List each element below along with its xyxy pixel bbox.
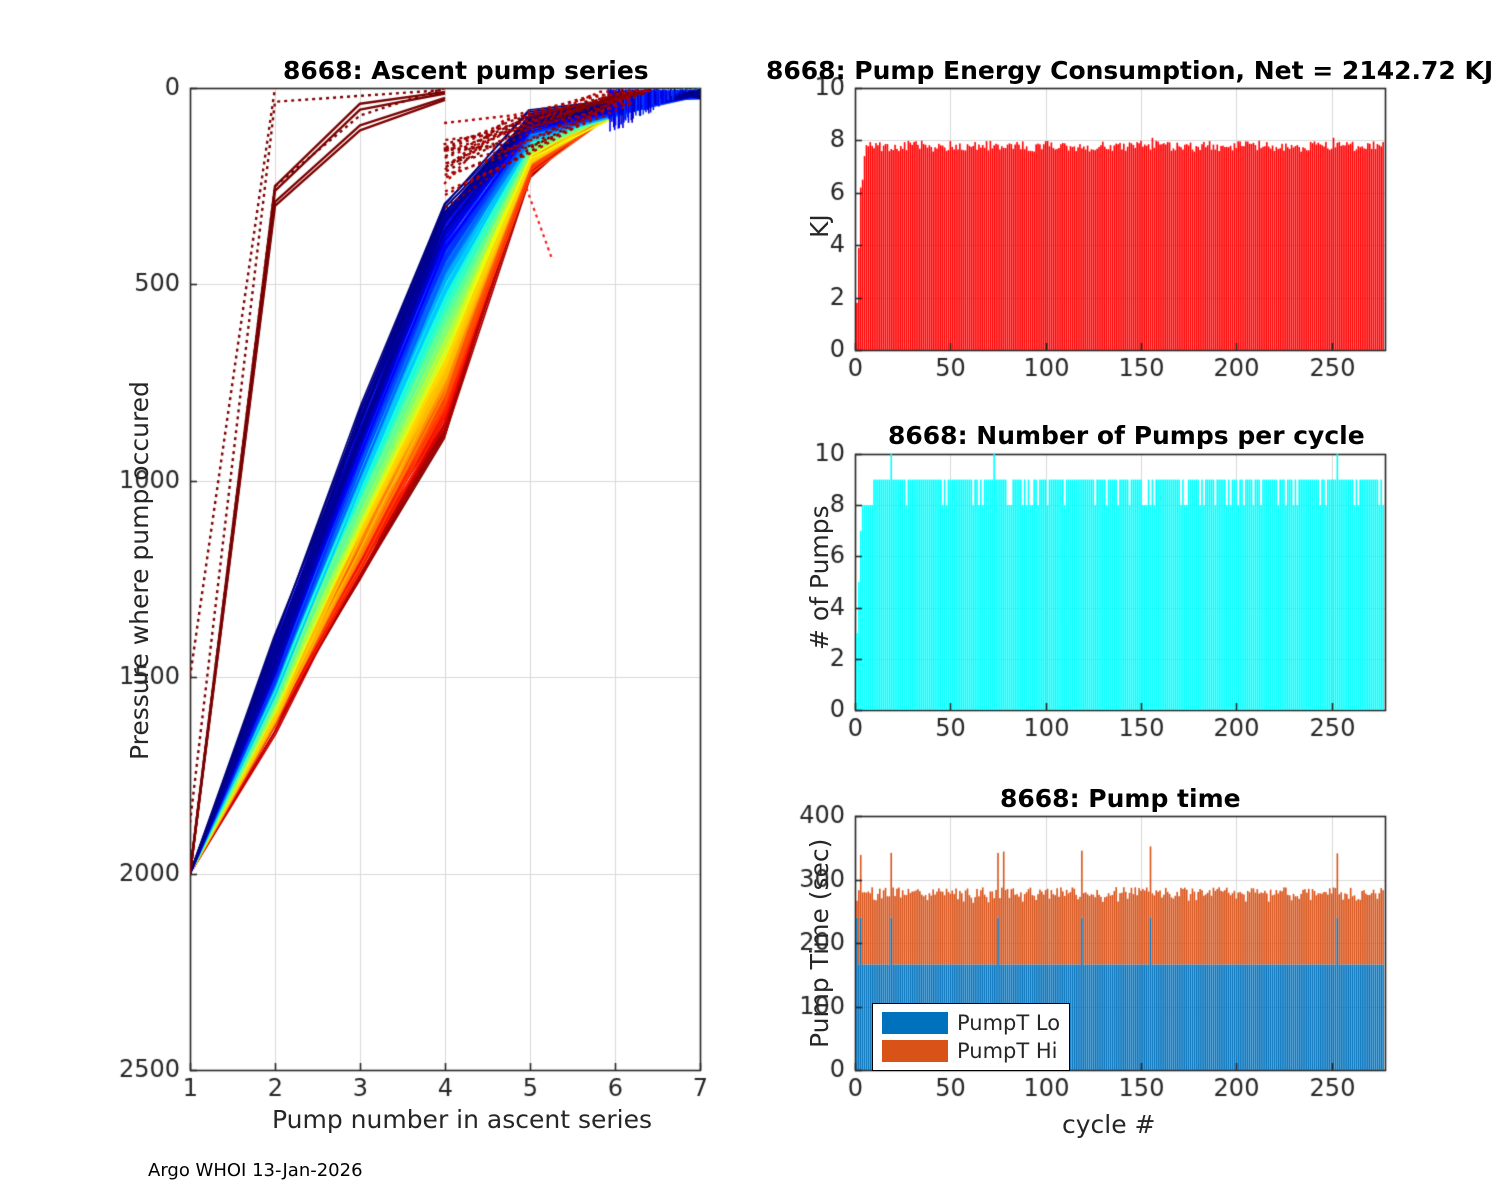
legend-label-pumpt-lo: PumpT Lo bbox=[957, 1011, 1060, 1035]
pump-time-xlabel: cycle # bbox=[1062, 1110, 1156, 1139]
ascent-series-xlabel: Pump number in ascent series bbox=[272, 1105, 652, 1134]
legend-swatch-pumpt-hi bbox=[882, 1040, 948, 1062]
legend-entry-pumpt-lo: PumpT Lo bbox=[882, 1011, 1060, 1035]
figure-footer: Argo WHOI 13-Jan-2026 bbox=[148, 1160, 363, 1181]
legend-label-pumpt-hi: PumpT Hi bbox=[957, 1039, 1058, 1063]
pump-energy-title: 8668: Pump Energy Consumption, Net = 214… bbox=[766, 56, 1493, 85]
figure-canvas: 8668: Ascent pump series Pump number in … bbox=[0, 0, 1500, 1200]
pumps-per-cycle-ylabel: # of Pumps bbox=[805, 505, 834, 650]
pumps-per-cycle-title: 8668: Number of Pumps per cycle bbox=[888, 421, 1365, 450]
ascent-series-ylabel: Pressure where pump occured bbox=[125, 381, 154, 760]
legend-entry-pumpt-hi: PumpT Hi bbox=[882, 1039, 1060, 1063]
pump-energy-ylabel: KJ bbox=[805, 214, 834, 238]
pump-time-legend: PumpT Lo PumpT Hi bbox=[872, 1003, 1070, 1071]
plot-canvas bbox=[0, 0, 1500, 1200]
pump-time-title: 8668: Pump time bbox=[1000, 784, 1241, 813]
legend-swatch-pumpt-lo bbox=[882, 1012, 948, 1034]
pump-time-ylabel: Pump Time (sec) bbox=[805, 839, 834, 1048]
ascent-series-title: 8668: Ascent pump series bbox=[283, 56, 649, 85]
